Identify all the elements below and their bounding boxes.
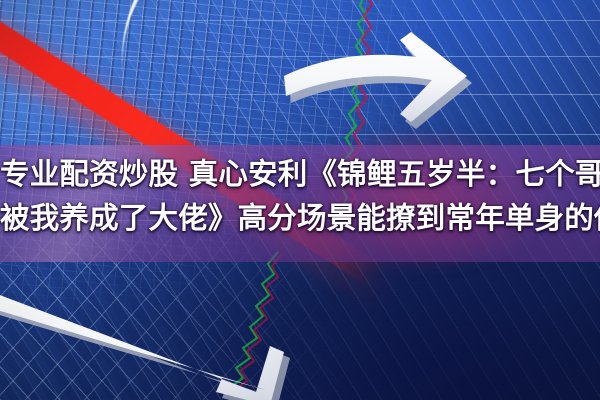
arrow-down-icon: [0, 250, 310, 400]
caption-line-1: 专业配资炒股 真心安利《锦鲤五岁半：七个哥哥: [0, 152, 600, 196]
caption-line-2: 被我养成了大佬》高分场景能撩到常年单身的你: [0, 196, 600, 240]
banner-image: 专业配资炒股 真心安利《锦鲤五岁半：七个哥哥 被我养成了大佬》高分场景能撩到常年…: [0, 0, 600, 400]
arrow-right-icon: [282, 10, 517, 140]
caption-text: 专业配资炒股 真心安利《锦鲤五岁半：七个哥哥 被我养成了大佬》高分场景能撩到常年…: [0, 152, 600, 240]
